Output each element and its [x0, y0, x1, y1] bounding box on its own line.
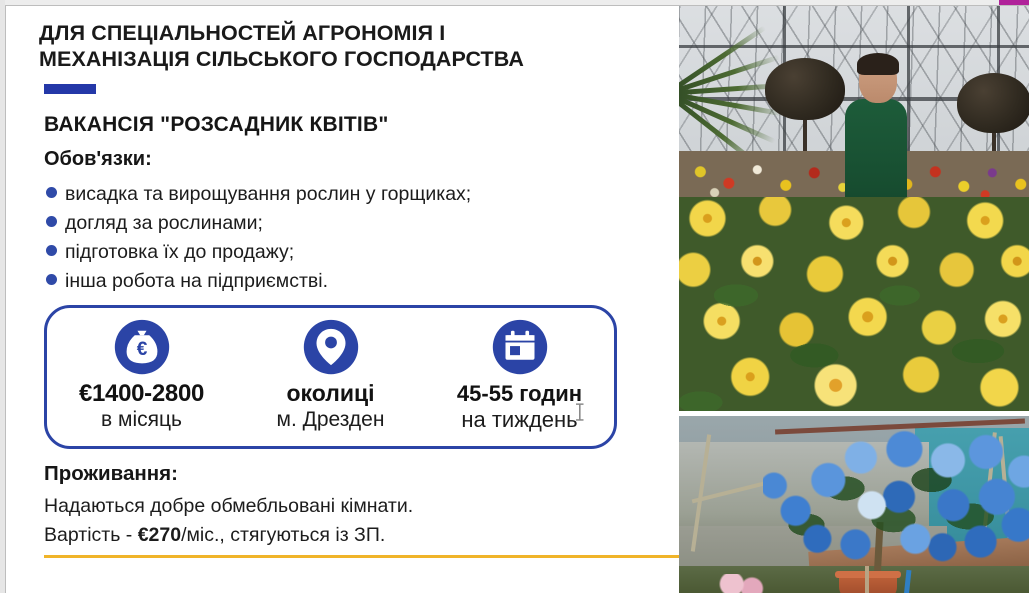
slide-heading: ДЛЯ СПЕЦІАЛЬНОСТЕЙ АГРОНОМІЯ І МЕХАНІЗАЦ… — [39, 20, 639, 72]
slide-photo-column — [679, 5, 1029, 593]
svg-text:€: € — [136, 339, 147, 360]
worker-hair — [857, 53, 899, 75]
list-item: інша робота на підприємстві. — [46, 269, 656, 298]
housing-cost-suffix: /міс., стягуються із ЗП. — [181, 524, 385, 546]
fact-salary-sub: в місяць — [101, 407, 182, 433]
bullet-dot-icon — [46, 187, 57, 198]
primrose-flower-centers — [679, 197, 1029, 411]
fact-hours-value: 45-55 годин — [457, 380, 582, 407]
fact-location-sub: м. Дрезден — [277, 407, 385, 433]
money-bag-euro-icon: € — [113, 318, 171, 376]
list-item-label: інша робота на підприємстві. — [65, 269, 328, 294]
vacancy-title: ВАКАНСІЯ "РОЗСАДНИК КВІТІВ" — [44, 113, 388, 137]
list-item-label: догляд за рослинами; — [65, 211, 263, 236]
housing-cost: Вартість - €270/міс., стягуються із ЗП. — [44, 524, 385, 547]
fact-location-value: околиці — [286, 380, 374, 407]
fact-salary-value: €1400-2800 — [79, 380, 204, 407]
bullet-dot-icon — [46, 274, 57, 285]
bottom-divider — [44, 555, 683, 558]
screen: ДЛЯ СПЕЦІАЛЬНОСТЕЙ АГРОНОМІЯ І МЕХАНІЗАЦ… — [0, 0, 1029, 593]
housing-cost-amount: €270 — [138, 524, 181, 546]
greenhouse-worker-flowers-photo — [679, 5, 1029, 411]
list-item: підготовка їх до продажу; — [46, 240, 656, 269]
job-facts-box: € €1400-2800 в місяць околиці м. Дрезден — [44, 305, 617, 449]
list-item-label: підготовка їх до продажу; — [65, 240, 294, 265]
topiary-tree — [765, 58, 845, 120]
duties-list: висадка та вирощування рослин у горщиках… — [46, 182, 656, 298]
fact-hours: 45-55 годин на тиждень — [425, 308, 614, 433]
fact-hours-sub: на тиждень — [461, 407, 577, 433]
support-stick — [865, 566, 869, 593]
calendar-icon — [491, 318, 549, 376]
location-pin-icon — [302, 318, 360, 376]
heading-line-2: МЕХАНІЗАЦІЯ СІЛЬСЬКОГО ГОСПОДАРСТВА — [39, 46, 639, 72]
list-item: догляд за рослинами; — [46, 211, 656, 240]
bullet-dot-icon — [46, 245, 57, 256]
list-item-label: висадка та вирощування рослин у горщиках… — [65, 182, 471, 207]
topiary-tree — [957, 73, 1029, 133]
bullet-dot-icon — [46, 216, 57, 227]
list-item: висадка та вирощування рослин у горщиках… — [46, 182, 656, 211]
job-facts-row: € €1400-2800 в місяць околиці м. Дрезден — [47, 308, 614, 446]
duties-label: Обов'язки: — [44, 148, 152, 171]
housing-cost-prefix: Вартість - — [44, 524, 138, 546]
presentation-slide: ДЛЯ СПЕЦІАЛЬНОСТЕЙ АГРОНОМІЯ І МЕХАНІЗАЦ… — [5, 5, 1029, 593]
pink-flowers — [715, 574, 771, 593]
heading-accent-bar — [44, 84, 96, 94]
slide-text-column: ДЛЯ СПЕЦІАЛЬНОСТЕЙ АГРОНОМІЯ І МЕХАНІЗАЦ… — [6, 6, 679, 593]
fact-salary: € €1400-2800 в місяць — [47, 308, 236, 433]
fact-location: околиці м. Дрезден — [236, 308, 425, 433]
housing-label: Проживання: — [44, 462, 178, 486]
blue-flowering-shrub-photo — [679, 416, 1029, 593]
blue-flower-canopy — [763, 424, 1029, 564]
housing-description: Надаються добре обмебльовані кімнати. — [44, 495, 413, 518]
heading-line-1: ДЛЯ СПЕЦІАЛЬНОСТЕЙ АГРОНОМІЯ І — [39, 20, 639, 46]
